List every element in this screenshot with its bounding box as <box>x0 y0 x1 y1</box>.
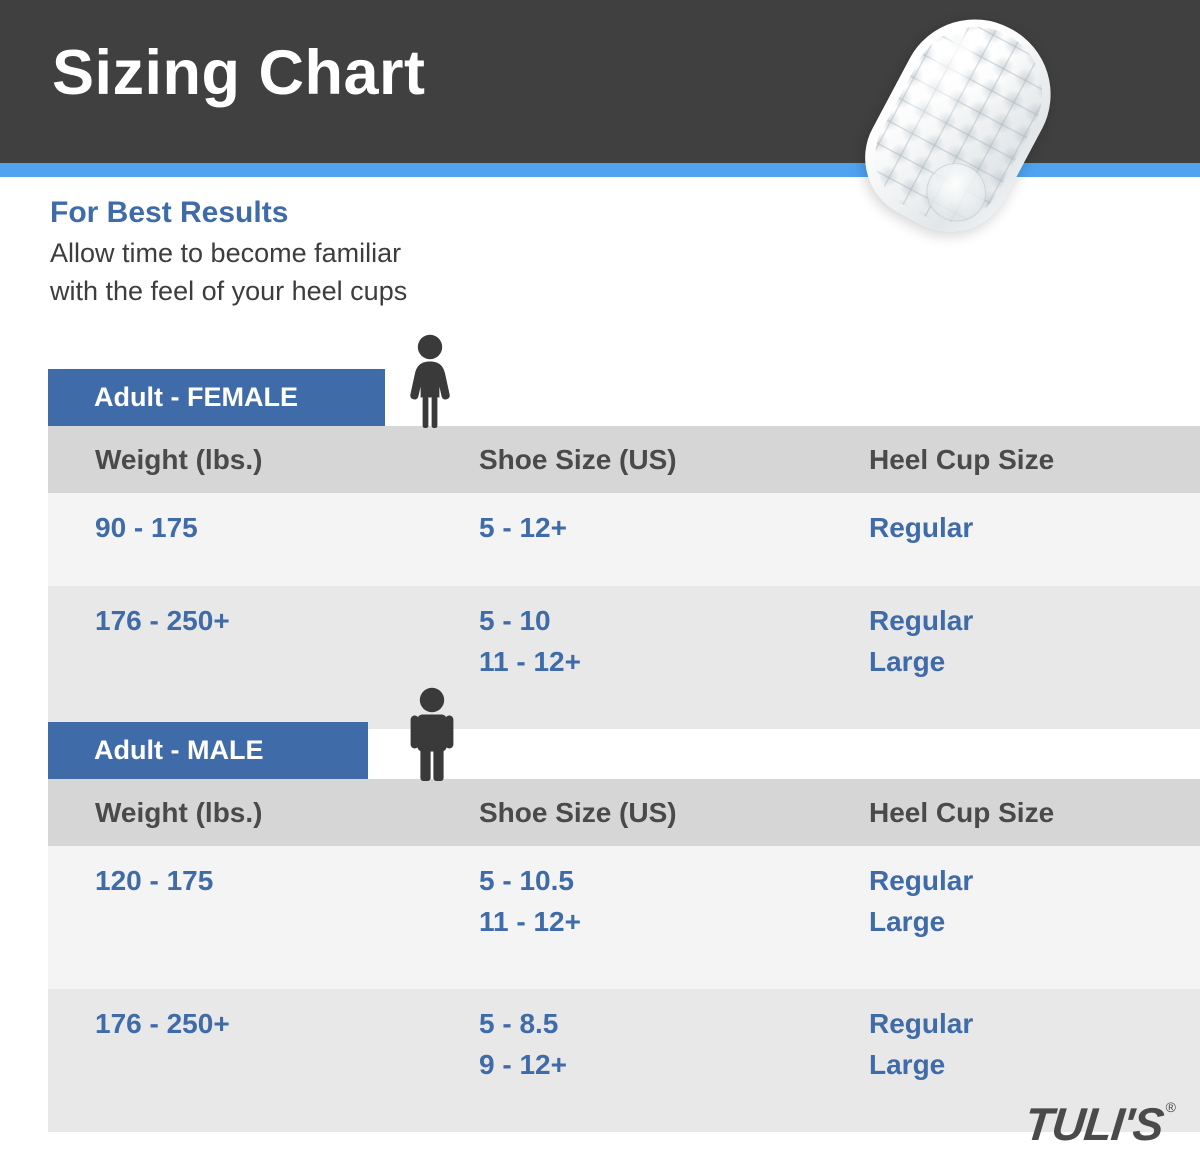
cell-line: 5 - 10.5 <box>479 860 822 901</box>
cell-weight: 120 - 175 <box>48 846 432 989</box>
cell-weight: 90 - 175 <box>48 493 432 586</box>
table-header-male: Weight (lbs.) Shoe Size (US) Heel Cup Si… <box>48 779 1200 846</box>
intro-block: For Best Results Allow time to become fa… <box>50 196 610 310</box>
cell-line: Regular <box>869 600 1200 641</box>
tulis-logo: TULI'S ® <box>1025 1097 1176 1151</box>
group-label-female: Adult - FEMALE <box>48 382 298 413</box>
table-header-row: Weight (lbs.) Shoe Size (US) Heel Cup Si… <box>48 426 1200 493</box>
size-table-male: Weight (lbs.) Shoe Size (US) Heel Cup Si… <box>48 779 1200 1132</box>
cell-line: 11 - 12+ <box>479 641 822 682</box>
column-header-heel-cup-size: Heel Cup Size <box>822 426 1200 493</box>
cell-weight: 176 - 250+ <box>48 989 432 1132</box>
table-row: 90 - 175 5 - 12+ Regular <box>48 493 1200 586</box>
intro-line-1: Allow time to become familiar <box>50 234 610 272</box>
cell-line: 5 - 8.5 <box>479 1003 822 1044</box>
female-figure-icon <box>402 334 458 430</box>
column-header-shoe-size: Shoe Size (US) <box>432 779 822 846</box>
cell-heel-cup-size: Regular <box>822 493 1200 586</box>
group-band-male: Adult - MALE <box>48 722 368 779</box>
page-title: Sizing Chart <box>52 42 426 105</box>
group-label-male: Adult - MALE <box>48 735 263 766</box>
table-header-row: Weight (lbs.) Shoe Size (US) Heel Cup Si… <box>48 779 1200 846</box>
cell-line: Large <box>869 641 1200 682</box>
column-header-weight: Weight (lbs.) <box>48 426 432 493</box>
section-adult-male: Adult - MALE Weight (lbs.) Shoe Size (US… <box>48 722 1085 1132</box>
cell-heel-cup-size: Regular Large <box>822 846 1200 989</box>
table-row: 176 - 250+ 5 - 10 11 - 12+ Regular Large <box>48 586 1200 729</box>
registered-trademark-icon: ® <box>1166 1099 1176 1115</box>
cell-line: Large <box>869 901 1200 942</box>
group-band-female: Adult - FEMALE <box>48 369 385 426</box>
logo-wordmark: TULI'S <box>1022 1097 1166 1151</box>
cell-shoe-size: 5 - 8.5 9 - 12+ <box>432 989 822 1132</box>
cell-shoe-size: 5 - 12+ <box>432 493 822 586</box>
cell-weight: 176 - 250+ <box>48 586 432 729</box>
cell-heel-cup-size: Regular Large <box>822 586 1200 729</box>
cell-line: Regular <box>869 507 1200 548</box>
cell-line: 9 - 12+ <box>479 1044 822 1085</box>
cell-shoe-size: 5 - 10.5 11 - 12+ <box>432 846 822 989</box>
size-table-female: Weight (lbs.) Shoe Size (US) Heel Cup Si… <box>48 426 1200 729</box>
table-header-female: Weight (lbs.) Shoe Size (US) Heel Cup Si… <box>48 426 1200 493</box>
cell-shoe-size: 5 - 10 11 - 12+ <box>432 586 822 729</box>
cell-line: Regular <box>869 1003 1200 1044</box>
column-header-heel-cup-size: Heel Cup Size <box>822 779 1200 846</box>
table-row: 120 - 175 5 - 10.5 11 - 12+ Regular Larg… <box>48 846 1200 989</box>
section-adult-female: Adult - FEMALE Weight (lbs.) Shoe Size (… <box>48 369 1085 729</box>
intro-line-2: with the feel of your heel cups <box>50 272 610 310</box>
cell-line: 5 - 10 <box>479 600 822 641</box>
accent-stripe <box>0 163 1200 177</box>
cell-line: 11 - 12+ <box>479 901 822 942</box>
cell-line: 5 - 12+ <box>479 507 822 548</box>
cell-line: Large <box>869 1044 1200 1085</box>
intro-heading: For Best Results <box>50 196 610 230</box>
column-header-shoe-size: Shoe Size (US) <box>432 426 822 493</box>
column-header-weight: Weight (lbs.) <box>48 779 432 846</box>
cell-line: Regular <box>869 860 1200 901</box>
